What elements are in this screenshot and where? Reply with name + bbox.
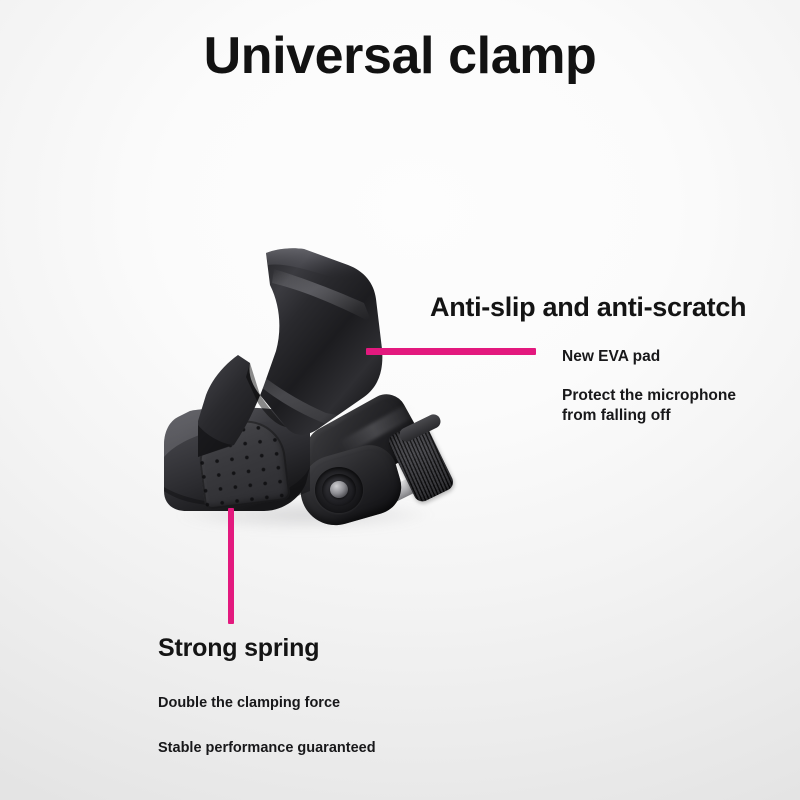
page-title: Universal clamp — [0, 28, 800, 85]
infographic-canvas: Universal clamp — [0, 0, 800, 800]
annotation-left-heading: Strong spring — [158, 634, 558, 663]
annotation-left-line-2: Stable performance guaranteed — [158, 739, 558, 758]
annotation-right-heading: Anti-slip and anti-scratch — [430, 292, 790, 323]
annotation-strong-spring: Strong spring Double the clamping force … — [158, 634, 558, 757]
upper-jaw — [198, 247, 386, 459]
annotation-right-details: New EVA pad Protect the microphone from … — [562, 347, 790, 425]
annotation-left-line-1: Double the clamping force — [158, 694, 558, 713]
pivot-screw-head — [330, 481, 348, 498]
annotation-right-line-1: New EVA pad — [562, 347, 790, 366]
annotation-right-line-2: Protect the microphone from falling off — [562, 386, 790, 425]
leader-line-vertical — [228, 508, 234, 624]
annotation-anti-slip: Anti-slip and anti-scratch New EVA pad P… — [430, 292, 790, 425]
